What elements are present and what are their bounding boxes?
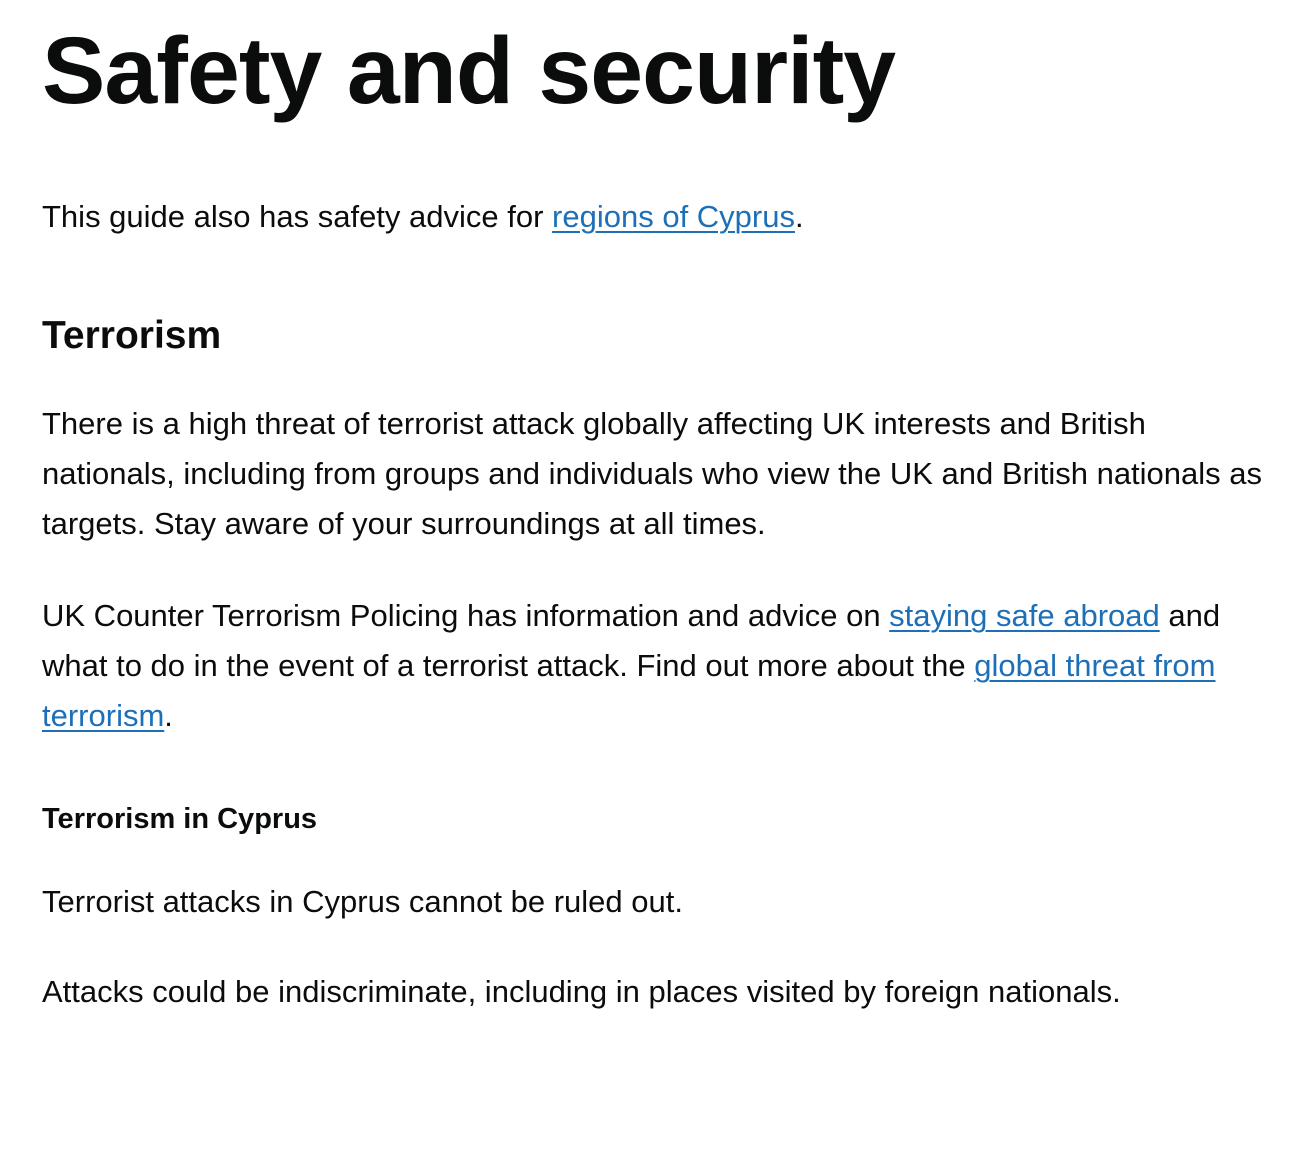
page-title: Safety and security <box>42 0 1274 122</box>
terrorism-in-cyprus-paragraph-2: Attacks could be indiscriminate, includi… <box>42 927 1274 1017</box>
link-staying-safe-abroad[interactable]: staying safe abroad <box>889 598 1160 633</box>
terrorism-paragraph-2: UK Counter Terrorism Policing has inform… <box>42 549 1274 741</box>
terrorism-paragraph-1: There is a high threat of terrorist atta… <box>42 357 1274 549</box>
link-regions-of-cyprus[interactable]: regions of Cyprus <box>552 199 795 234</box>
page-container: Safety and security This guide also has … <box>0 0 1314 1152</box>
terrorism-p2-text-part-3: . <box>164 698 173 733</box>
heading-terrorism: Terrorism <box>42 242 1274 358</box>
terrorism-in-cyprus-paragraph-1: Terrorist attacks in Cyprus cannot be ru… <box>42 837 1274 927</box>
intro-paragraph: This guide also has safety advice for re… <box>42 122 1274 242</box>
intro-text-before-link: This guide also has safety advice for <box>42 199 552 234</box>
intro-text-after-link: . <box>795 199 804 234</box>
heading-terrorism-in-cyprus: Terrorism in Cyprus <box>42 741 1274 836</box>
terrorism-p2-text-part-1: UK Counter Terrorism Policing has inform… <box>42 598 889 633</box>
